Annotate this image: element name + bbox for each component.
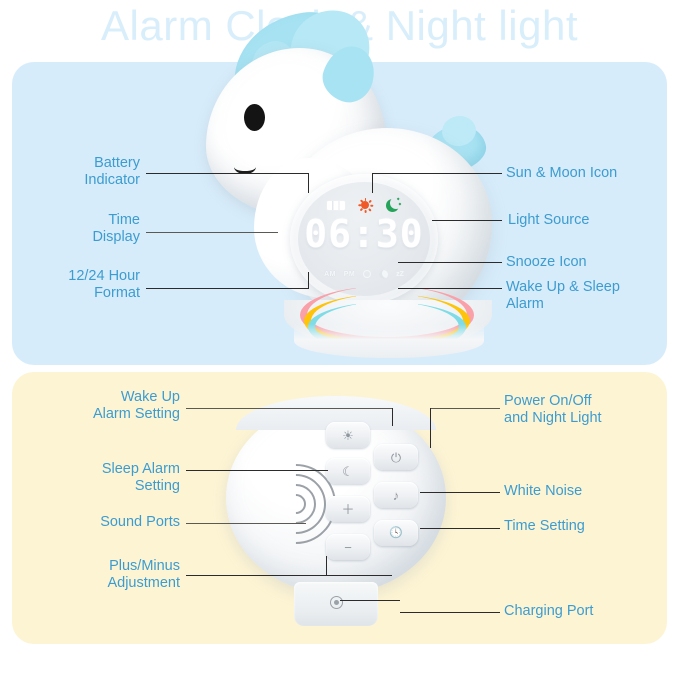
leader-snooze xyxy=(398,262,502,263)
lcd-bottom-row: AM PM zZ xyxy=(298,268,430,280)
white-noise-button[interactable]: ♪ xyxy=(374,482,418,508)
time-readout: 06:30 xyxy=(298,212,430,256)
alarm-bell-icon: ☀ xyxy=(342,429,354,442)
label-sun-moon-icon: Sun & Moon Icon xyxy=(506,165,672,182)
label-plus-minus-adjustment: Plus/Minus Adjustment xyxy=(16,558,180,592)
leader-time-display xyxy=(146,232,278,233)
label-time-setting: Time Setting xyxy=(504,518,676,535)
leader-sun-moon-drop xyxy=(372,173,373,193)
label-wake-up-alarm-setting: Wake Up Alarm Setting xyxy=(16,389,180,423)
power-button[interactable]: ⏻ xyxy=(374,444,418,470)
music-note-icon: ♪ xyxy=(393,489,400,502)
label-time-display: Time Display xyxy=(16,212,140,246)
label-white-noise: White Noise xyxy=(504,483,676,500)
sun-icon xyxy=(358,198,373,213)
leader-sleep-alarm xyxy=(186,470,328,471)
product-front-image: 06:30 AM PM zZ xyxy=(196,8,496,360)
label-battery-indicator: Battery Indicator xyxy=(16,155,140,189)
label-sound-ports: Sound Ports xyxy=(16,514,180,531)
battery-icon xyxy=(327,201,345,210)
leader-white-noise xyxy=(420,492,500,493)
pm-indicator: PM xyxy=(344,271,355,278)
leader-time-setting xyxy=(420,528,500,529)
charging-port-icon xyxy=(330,596,343,609)
leader-battery-drop xyxy=(308,173,309,193)
product-back-image: ☀ ☾ ＋ − ⏻ ♪ 🕓 xyxy=(214,396,464,646)
plus-button[interactable]: ＋ xyxy=(326,496,370,522)
leader-light-source xyxy=(432,220,502,221)
label-wake-sleep-alarm: Wake Up & Sleep Alarm xyxy=(506,279,676,313)
infographic-page: Alarm Clock & Night light xyxy=(0,0,679,674)
moon-sleep-icon: ☾ xyxy=(342,465,354,478)
wake-alarm-button[interactable]: ☀ xyxy=(326,422,370,448)
leader-battery xyxy=(146,173,308,174)
label-snooze-icon: Snooze Icon xyxy=(506,254,672,271)
time-button[interactable]: 🕓 xyxy=(374,520,418,546)
moon-small-icon xyxy=(379,270,388,279)
leader-hour-format xyxy=(146,288,308,289)
leader-plus-minus-drop xyxy=(326,556,327,576)
minus-icon: − xyxy=(344,541,352,554)
rainbow-light xyxy=(300,286,474,334)
rainbow-mask xyxy=(294,324,484,358)
label-power-night-light: Power On/Off and Night Light xyxy=(504,393,676,427)
sleep-alarm-button[interactable]: ☾ xyxy=(326,458,370,484)
eye-shape xyxy=(244,104,265,131)
label-light-source: Light Source xyxy=(508,212,674,229)
smile-shape xyxy=(234,160,256,174)
leader-sun-moon xyxy=(372,173,502,174)
lcd-display: 06:30 AM PM zZ xyxy=(298,182,430,296)
moon-icon xyxy=(386,198,402,213)
display-bezel: 06:30 AM PM zZ xyxy=(290,174,438,304)
leader-hour-drop xyxy=(308,272,309,289)
plus-icon: ＋ xyxy=(341,503,354,516)
leader-sound-ports xyxy=(186,523,306,524)
leader-charging-port-2 xyxy=(340,600,400,601)
leader-plus-minus xyxy=(186,575,392,576)
leader-wake-alarm-drop xyxy=(392,408,393,426)
charging-stand xyxy=(294,582,378,626)
leader-charging-port xyxy=(400,612,500,613)
leader-wake-sleep xyxy=(398,288,502,289)
clock-icon: 🕓 xyxy=(389,528,403,539)
alarm-icon xyxy=(363,270,371,278)
leader-power-drop xyxy=(430,408,431,448)
label-charging-port: Charging Port xyxy=(504,603,676,620)
leader-power xyxy=(430,408,500,409)
snooze-icon: zZ xyxy=(396,271,404,278)
leader-wake-alarm xyxy=(186,408,392,409)
power-icon: ⏻ xyxy=(391,451,401,464)
am-indicator: AM xyxy=(324,271,336,278)
minus-button[interactable]: − xyxy=(326,534,370,560)
label-hour-format: 12/24 Hour Format xyxy=(8,268,140,302)
label-sleep-alarm-setting: Sleep Alarm Setting xyxy=(16,461,180,495)
